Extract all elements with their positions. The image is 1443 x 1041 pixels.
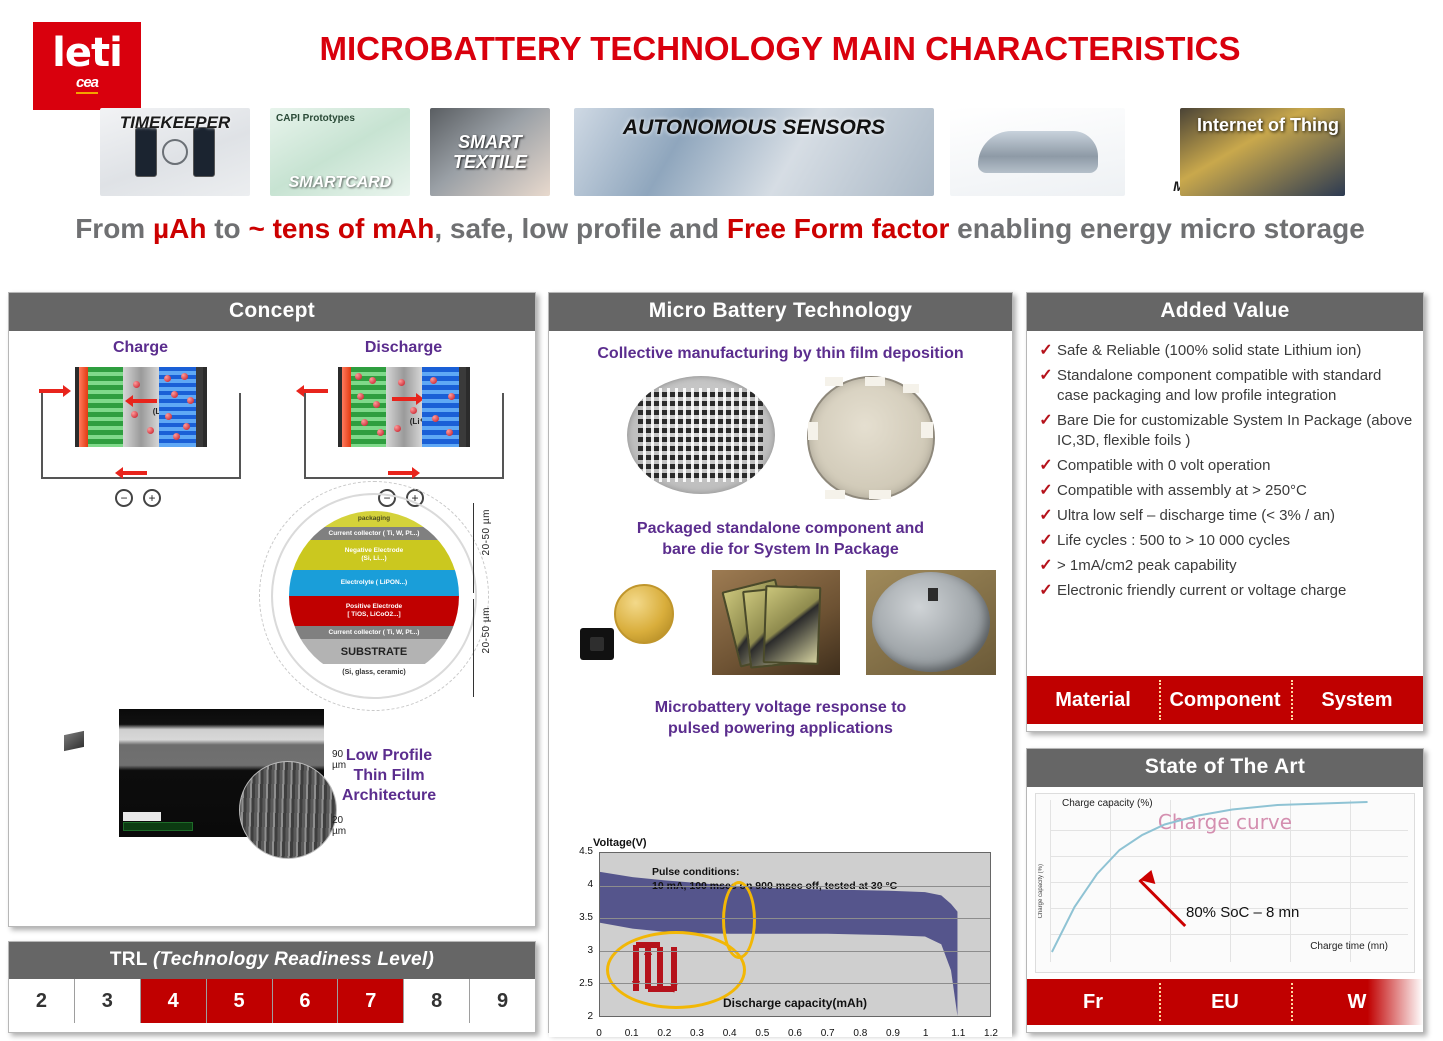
layer-negative-electrode: Negative Electrode (Si, Li...) bbox=[289, 540, 459, 570]
layer-positive-electrode-line1: Positive Electrode bbox=[346, 603, 402, 611]
charge-discharge-diagrams: Charge (Li⁺)sub bbox=[9, 339, 535, 495]
layer-negative-electrode-line1: Negative Electrode bbox=[345, 547, 404, 555]
scope-cell-w[interactable]: W bbox=[1291, 979, 1423, 1025]
trl-level-8[interactable]: 8 bbox=[404, 979, 470, 1023]
check-icon: ✓ bbox=[1035, 531, 1057, 551]
layer-current-collector-bottom: Current collector ( Ti, W, Pt...) bbox=[289, 626, 459, 639]
slide-header: leti cea MICROBATTERY TECHNOLOGY MAIN CH… bbox=[0, 0, 1443, 208]
trl-level-3[interactable]: 3 bbox=[75, 979, 141, 1023]
trl-level-5[interactable]: 5 bbox=[207, 979, 273, 1023]
charge-curve-annotation: 80% SoC – 8 mn bbox=[1186, 904, 1299, 921]
added-value-item: ✓> 1mA/cm2 peak capability bbox=[1035, 556, 1415, 576]
thumbnail-smartcard: CAPI Prototypes SMARTCARD bbox=[270, 108, 410, 196]
voltage-response-chart: Voltage(V) Pulse conditions: 10 mA, 100 … bbox=[567, 839, 997, 1039]
added-value-item-text: Compatible with 0 volt operation bbox=[1057, 456, 1270, 476]
terminal-positive-charge: + bbox=[143, 489, 161, 507]
charge-cell-stack: (Li⁺)sub bbox=[75, 367, 207, 447]
bare-die-icon bbox=[928, 588, 938, 601]
trl-level-6[interactable]: 6 bbox=[273, 979, 339, 1023]
packaged-chip-icon bbox=[580, 628, 614, 660]
voltage-chart-xtick: 0.5 bbox=[755, 1028, 769, 1039]
check-icon: ✓ bbox=[1035, 556, 1057, 576]
thumbnail-iot-label: Internet of Thing bbox=[1197, 114, 1339, 136]
added-value-item-text: Standalone component compatible with sta… bbox=[1057, 366, 1415, 406]
voltage-chart-plot-area: Pulse conditions: 10 mA, 100 msec on 900… bbox=[599, 852, 991, 1017]
thumbnail-smartcard-label: CAPI Prototypes bbox=[276, 113, 355, 124]
trl-scale: 23456789 bbox=[9, 979, 535, 1023]
car-icon bbox=[978, 131, 1098, 173]
wafer-patterned-photo bbox=[627, 376, 775, 494]
trl-level-4[interactable]: 4 bbox=[141, 979, 207, 1023]
scope-cell-eu[interactable]: EU bbox=[1159, 979, 1291, 1025]
dimension-label-top: 20-50 µm bbox=[481, 509, 492, 555]
maturity-scale-bar: MaterialComponentSystem bbox=[1027, 676, 1423, 724]
added-value-item-text: Compatible with assembly at > 250°C bbox=[1057, 481, 1307, 501]
electron-arrow-discharge-out bbox=[302, 389, 328, 393]
subtitle-part-4: enabling energy micro storage bbox=[949, 213, 1364, 244]
slide-subtitle: From µAh to ~ tens of mAh, safe, low pro… bbox=[70, 210, 1370, 248]
thumbnail-smart-textile-label: SMART TEXTILE bbox=[430, 132, 550, 172]
subtitle-highlight-1: µAh bbox=[153, 213, 206, 244]
voltage-chart-ytick: 2.5 bbox=[567, 978, 593, 989]
layer-negative-electrode-line2: (Si, Li...) bbox=[361, 555, 386, 563]
voltage-chart-annotation-line1: Pulse conditions: bbox=[652, 865, 897, 879]
voltage-chart-gridline bbox=[600, 983, 990, 984]
voltage-chart-xtick: 0.3 bbox=[690, 1028, 704, 1039]
trl-panel-title: TRL (Technology Readiness Level) bbox=[9, 942, 535, 979]
added-value-item: ✓Standalone component compatible with st… bbox=[1035, 366, 1415, 406]
added-value-list: ✓Safe & Reliable (100% solid state Lithi… bbox=[1035, 341, 1415, 601]
charge-curve-xlabel: Charge time (mn) bbox=[1310, 941, 1388, 952]
added-value-item-text: Life cycles : 500 to > 10 000 cycles bbox=[1057, 531, 1290, 551]
voltage-chart-xtick: 0 bbox=[596, 1028, 602, 1039]
panel-trl: TRL (Technology Readiness Level) 2345678… bbox=[8, 941, 536, 1033]
low-profile-caption-line1: Low Profile bbox=[309, 746, 469, 766]
thumbnail-autonomous-sensors-label: AUTONOMOUS SENSORS bbox=[574, 116, 934, 140]
terminal-negative-charge: − bbox=[115, 489, 133, 507]
page-title: MICROBATTERY TECHNOLOGY MAIN CHARACTERIS… bbox=[150, 30, 1410, 68]
voltage-chart-annotation: Pulse conditions: 10 mA, 100 msec on 900… bbox=[652, 865, 897, 893]
mbt-panel-body: Collective manufacturing by thin film de… bbox=[549, 343, 1012, 1037]
added-value-item: ✓Ultra low self – discharge time (< 3% /… bbox=[1035, 506, 1415, 526]
voltage-chart-xtick: 0.9 bbox=[886, 1028, 900, 1039]
panel-state-of-the-art: State of The Art Charge capacity (%) Cha… bbox=[1026, 748, 1424, 1033]
voltage-chart-xtick: 0.4 bbox=[723, 1028, 737, 1039]
maturity-cell-material[interactable]: Material bbox=[1027, 676, 1159, 724]
added-value-item: ✓Safe & Reliable (100% solid state Lithi… bbox=[1035, 341, 1415, 361]
added-value-panel-title: Added Value bbox=[1027, 293, 1423, 331]
thumbnail-automotive bbox=[950, 108, 1125, 196]
check-icon: ✓ bbox=[1035, 366, 1057, 386]
bare-die-pouch-photo bbox=[712, 570, 840, 675]
dimension-label-bottom: 20-50 µm bbox=[481, 607, 492, 653]
application-thumbnail-strip: TIMEKEEPER CAPI Prototypes SMARTCARD SMA… bbox=[100, 108, 1350, 200]
sem-cross-section: 90 µm 20 µm bbox=[64, 709, 324, 859]
electron-arrow-charge-out bbox=[121, 471, 147, 475]
scope-cell-fr[interactable]: Fr bbox=[1027, 979, 1159, 1025]
discharge-cell-stack: (Li⁺)sub bbox=[338, 367, 470, 447]
sota-panel-body: Charge capacity (%) Charge capacity (%) … bbox=[1027, 787, 1423, 1025]
electron-arrow-discharge-in bbox=[388, 471, 414, 475]
low-profile-caption: Low Profile Thin Film Architecture bbox=[309, 746, 469, 806]
voltage-chart-ytick: 3.5 bbox=[567, 912, 593, 923]
charge-diagram: Charge (Li⁺)sub bbox=[9, 339, 272, 495]
check-icon: ✓ bbox=[1035, 456, 1057, 476]
voltage-chart-xtick: 1.1 bbox=[951, 1028, 965, 1039]
wafer-blank-photo bbox=[807, 376, 935, 500]
mbt-section3-line1: Microbattery voltage response to bbox=[549, 697, 1012, 718]
scope-scale-bar: FrEUW bbox=[1027, 979, 1423, 1025]
mbt-section-voltage-response: Microbattery voltage response to pulsed … bbox=[549, 697, 1012, 739]
mbt-section3-line2: pulsed powering applications bbox=[549, 718, 1012, 739]
trl-level-2[interactable]: 2 bbox=[9, 979, 75, 1023]
thumbnail-timekeeper: TIMEKEEPER bbox=[100, 108, 250, 196]
voltage-chart-ytick: 4 bbox=[567, 879, 593, 890]
layer-positive-electrode: Positive Electrode [ TiOS, LiCoO2...] bbox=[289, 596, 459, 626]
charge-curve-chart: Charge capacity (%) Charge capacity (%) … bbox=[1035, 793, 1415, 973]
dimension-line-bottom bbox=[473, 599, 474, 697]
die-on-euro-coin-photo bbox=[866, 570, 996, 675]
voltage-chart-gridline bbox=[600, 886, 990, 887]
thumbnail-timekeeper-label: TIMEKEEPER bbox=[100, 113, 250, 133]
trl-level-9[interactable]: 9 bbox=[470, 979, 535, 1023]
discharge-diagram-title: Discharge bbox=[272, 339, 535, 357]
voltage-chart-gridline bbox=[600, 918, 990, 919]
logo-wordmark: leti bbox=[52, 34, 122, 72]
subtitle-part-1: From bbox=[75, 213, 153, 244]
voltage-chart-xtick: 0.1 bbox=[625, 1028, 639, 1039]
thumbnail-autonomous-sensors: AUTONOMOUS SENSORS bbox=[574, 108, 934, 196]
mbt-section-packaged-component: Packaged standalone component and bare d… bbox=[549, 518, 1012, 560]
panel-concept: Concept Charge (Li⁺)sub bbox=[8, 292, 536, 927]
added-value-item: ✓Bare Die for customizable System In Pac… bbox=[1035, 411, 1415, 451]
device-chip-icon bbox=[64, 731, 84, 751]
mbt-panel-title: Micro Battery Technology bbox=[549, 293, 1012, 331]
voltage-chart-ytick: 3 bbox=[567, 945, 593, 956]
sem-dimension-20um: 20 µm bbox=[332, 815, 346, 837]
voltage-chart-xlabel: Discharge capacity(mAh) bbox=[723, 996, 867, 1010]
component-photos bbox=[549, 570, 1012, 675]
thumbnail-internet-of-things: Internet of Thing bbox=[1180, 108, 1345, 196]
voltage-chart-ytick: 2 bbox=[567, 1011, 593, 1022]
thumbnail-smartcard-sub: SMARTCARD bbox=[270, 174, 410, 192]
layer-electrolyte: Electrolyte ( LiPON...) bbox=[289, 570, 459, 596]
check-icon: ✓ bbox=[1035, 481, 1057, 501]
trl-level-7[interactable]: 7 bbox=[338, 979, 404, 1023]
check-icon: ✓ bbox=[1035, 341, 1057, 361]
chip-with-coin-photo bbox=[566, 570, 686, 675]
subtitle-part-2: to bbox=[206, 213, 248, 244]
dimension-line-top bbox=[473, 503, 474, 593]
electron-arrow-charge-in bbox=[39, 389, 65, 393]
check-icon: ✓ bbox=[1035, 411, 1057, 431]
sota-panel-title: State of The Art bbox=[1027, 749, 1423, 787]
discharge-diagram: Discharge bbox=[272, 339, 535, 495]
charge-diagram-title: Charge bbox=[9, 339, 272, 357]
added-value-item-text: > 1mA/cm2 peak capability bbox=[1057, 556, 1237, 576]
voltage-chart-ytick: 4.5 bbox=[567, 846, 593, 857]
voltage-chart-gridline bbox=[600, 951, 990, 952]
voltage-chart-xtick: 1 bbox=[923, 1028, 929, 1039]
low-profile-caption-line2: Thin Film bbox=[309, 766, 469, 786]
euro-coin-icon bbox=[872, 572, 990, 672]
logo-cea-mark: cea bbox=[76, 74, 98, 94]
voltage-chart-xtick: 0.7 bbox=[821, 1028, 835, 1039]
subtitle-highlight-3: Free Form factor bbox=[727, 213, 950, 244]
concept-panel-title: Concept bbox=[9, 293, 535, 331]
added-value-item: ✓Compatible with assembly at > 250°C bbox=[1035, 481, 1415, 501]
check-icon: ✓ bbox=[1035, 581, 1057, 601]
layer-stack: packaging Current collector ( Ti, W, Pt.… bbox=[289, 511, 459, 681]
subtitle-highlight-2: ~ tens of mAh bbox=[248, 213, 434, 244]
subtitle-part-3: , safe, low profile and bbox=[434, 213, 727, 244]
added-value-item-text: Safe & Reliable (100% solid state Lithiu… bbox=[1057, 341, 1361, 361]
maturity-cell-system[interactable]: System bbox=[1291, 676, 1423, 724]
added-value-panel-body: ✓Safe & Reliable (100% solid state Lithi… bbox=[1027, 331, 1423, 724]
added-value-item-text: Bare Die for customizable System In Pack… bbox=[1057, 411, 1415, 451]
concept-panel-body: Charge (Li⁺)sub bbox=[9, 331, 535, 919]
leti-logo: leti cea bbox=[33, 22, 141, 110]
layer-positive-electrode-line2: [ TiOS, LiCoO2...] bbox=[347, 611, 400, 619]
added-value-item-text: Electronic friendly current or voltage c… bbox=[1057, 581, 1346, 601]
panel-added-value: Added Value ✓Safe & Reliable (100% solid… bbox=[1026, 292, 1424, 732]
mbt-section2-line1: Packaged standalone component and bbox=[549, 518, 1012, 539]
trl-title-italic: (Technology Readiness Level) bbox=[153, 949, 434, 970]
wafer-photos bbox=[549, 376, 1012, 500]
low-profile-caption-line3: Architecture bbox=[309, 786, 469, 806]
thumbnail-smart-textile: SMART TEXTILE bbox=[430, 108, 550, 196]
added-value-item: ✓Compatible with 0 volt operation bbox=[1035, 456, 1415, 476]
added-value-item: ✓Life cycles : 500 to > 10 000 cycles bbox=[1035, 531, 1415, 551]
voltage-chart-xtick: 1.2 bbox=[984, 1028, 998, 1039]
mbt-section-collective-manufacturing: Collective manufacturing by thin film de… bbox=[549, 343, 1012, 364]
voltage-chart-xtick: 0.2 bbox=[657, 1028, 671, 1039]
trl-title-main: TRL bbox=[110, 949, 153, 970]
gold-coin-icon bbox=[614, 584, 674, 644]
mbt-section2-line2: bare die for System In Package bbox=[549, 539, 1012, 560]
voltage-chart-xtick: 0.6 bbox=[788, 1028, 802, 1039]
voltage-chart-xtick: 0.8 bbox=[853, 1028, 867, 1039]
maturity-cell-component[interactable]: Component bbox=[1159, 676, 1291, 724]
added-value-item: ✓Electronic friendly current or voltage … bbox=[1035, 581, 1415, 601]
voltage-chart-ylabel: Voltage(V) bbox=[593, 837, 647, 849]
check-icon: ✓ bbox=[1035, 506, 1057, 526]
battery-stack-diagram: packaging Current collector ( Ti, W, Pt.… bbox=[259, 481, 499, 711]
panel-micro-battery-technology: Micro Battery Technology Collective manu… bbox=[548, 292, 1013, 1033]
added-value-item-text: Ultra low self – discharge time (< 3% / … bbox=[1057, 506, 1335, 526]
